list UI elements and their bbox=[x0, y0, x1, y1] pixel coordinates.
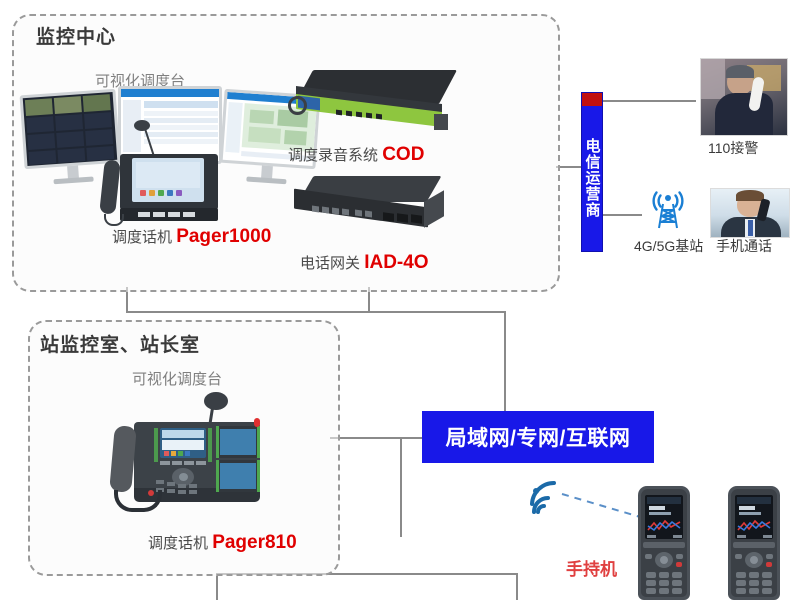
mobile-call-caption: 手机通话 bbox=[716, 236, 772, 256]
device-handheld-2 bbox=[728, 486, 780, 600]
base-station-caption: 4G/5G基站 bbox=[634, 236, 703, 256]
police-photo bbox=[700, 58, 788, 136]
station-console-caption: 可视化调度台 bbox=[132, 368, 222, 389]
wire-telecom-to-police bbox=[600, 100, 696, 102]
network-banner-label: 局域网/专网/互联网 bbox=[446, 422, 631, 452]
device-pager810 bbox=[112, 392, 284, 520]
pager810-label: 调度话机 bbox=[148, 535, 208, 552]
telecom-operator-cap bbox=[582, 93, 602, 106]
device-pager1000 bbox=[102, 140, 224, 228]
device-handheld-1 bbox=[638, 486, 690, 600]
network-banner: 局域网/专网/互联网 bbox=[422, 411, 654, 463]
pager1000-label: 调度话机 bbox=[112, 229, 172, 246]
network-topology-diagram: 监控中心 可视化调度台 bbox=[0, 0, 800, 600]
wire-bottom-drop-right bbox=[516, 573, 518, 600]
telecom-operator-label: 电信运营商 bbox=[584, 138, 601, 218]
pager1000-model: Pager1000 bbox=[176, 226, 271, 247]
antenna-tower-icon bbox=[645, 186, 691, 232]
group-station-rooms-title: 站监控室、站长室 bbox=[40, 330, 200, 357]
device-iad-gateway bbox=[288, 176, 448, 236]
wire-telecom-to-basestation bbox=[600, 214, 642, 216]
wire-trunk-horizontal bbox=[126, 311, 506, 313]
cod-caption: 调度录音系统 COD bbox=[288, 144, 424, 166]
pager810-caption: 调度话机 Pager810 bbox=[148, 532, 297, 554]
iad-model: IAD-4O bbox=[364, 252, 428, 273]
device-cod-recorder bbox=[288, 70, 454, 142]
iad-label: 电话网关 bbox=[300, 255, 360, 272]
mobile-call-photo bbox=[710, 188, 790, 238]
cod-label: 调度录音系统 bbox=[288, 147, 378, 164]
wire-trunk-to-lan bbox=[504, 311, 506, 411]
handhelds-caption: 手持机 bbox=[566, 555, 617, 580]
police-caption: 110接警 bbox=[708, 138, 758, 158]
pager810-model: Pager810 bbox=[212, 532, 297, 553]
pager1000-caption: 调度话机 Pager1000 bbox=[112, 226, 271, 248]
group-monitor-center-title: 监控中心 bbox=[36, 22, 116, 49]
telecom-operator-bar: 电信运营商 bbox=[581, 92, 603, 252]
wire-station-stub bbox=[330, 437, 402, 439]
wire-bottom-drop bbox=[216, 573, 218, 600]
cod-model: COD bbox=[382, 144, 424, 165]
iad-caption: 电话网关 IAD-4O bbox=[300, 252, 429, 274]
wire-station-side-vertical bbox=[400, 437, 402, 537]
